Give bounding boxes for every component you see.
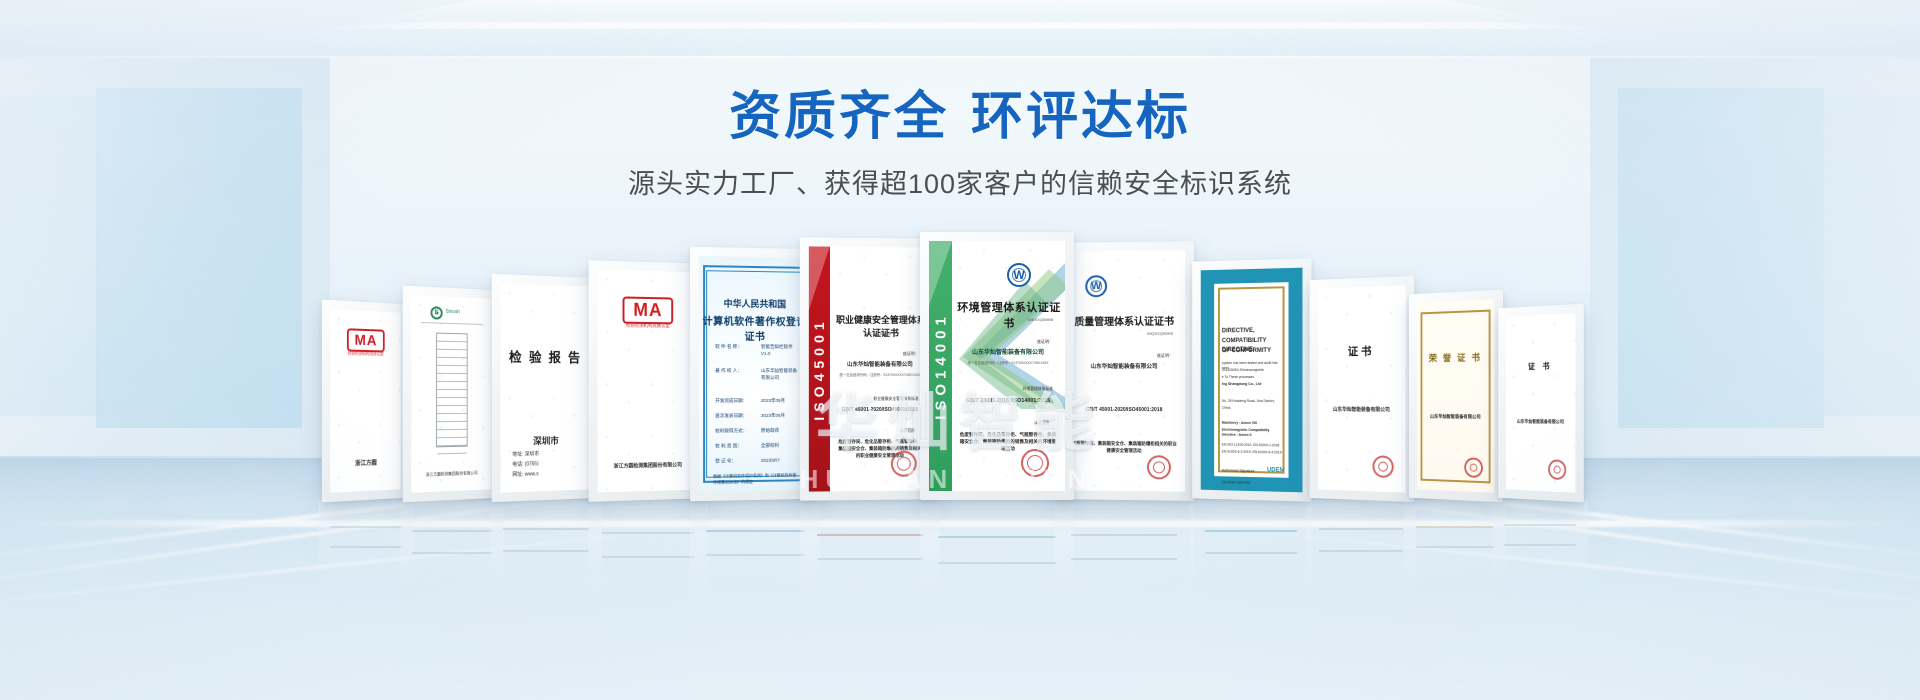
cert-field: 地址: 深圳市 — [512, 450, 584, 459]
cert-field-value: 2023SR7 — [761, 456, 800, 464]
certificate-reflection — [920, 500, 1074, 660]
red-stamp — [1546, 458, 1568, 482]
cert-company: 山东华灿智能装备有限公司 — [1323, 407, 1399, 415]
cert-title: 证书 — [1318, 342, 1406, 359]
cert-scope: 危废暂存间、危化品暂存柜、气瓶暂存柜、集装箱安全仓、集装箱防爆柜的销售及相关的环… — [959, 431, 1057, 452]
cert-iso45001: ISO45001 职业健康安全管理体系认证证书 00CXXQ0M95 兹证明： … — [809, 246, 931, 491]
cert-title: 证 书 — [1506, 360, 1576, 372]
page-title: 资质齐全环评达标 — [0, 88, 1920, 148]
cert-field-label: 权利取得方式： — [715, 427, 759, 435]
ce-heading-line: DIRECTIVE, — [1222, 327, 1283, 337]
cert-title: 计算机软件著作权登记证书 — [699, 312, 810, 343]
floor-reflections — [0, 500, 1920, 700]
ce-body-line: 2014/30/EU Electromagnetic — [1222, 368, 1283, 373]
org-seal: S — [430, 306, 442, 320]
ce-annex-line: Electromagnetic Compatibility Directive … — [1222, 428, 1283, 439]
cert-inspection-report: 检 验 报 告 深圳市 地址: 深圳市 电话: (0755) 网址: www.s — [501, 283, 590, 492]
cert-field-label: 开发完成日期： — [715, 397, 759, 404]
cert-field-value: 山东华灿智能装备有限公司 — [761, 367, 800, 381]
cert-company: 山东华灿智能装备有限公司 — [1424, 413, 1487, 421]
ce-body-line: ing Shangdong Co., Ltd — [1222, 382, 1283, 388]
cert-field-label: 软 件 名 称： — [715, 343, 759, 350]
certificate-frame[interactable]: MA 检验检测机构资质认定 浙江方圆 — [322, 300, 408, 503]
certificate-banner-stage: 资质齐全环评达标 源头实力工厂、获得超100家客户的信赖安全标识系统 MA 检验… — [0, 0, 1920, 700]
cert-honor-3: 证 书 山东华灿智能装备有限公司 — [1506, 313, 1576, 493]
red-stamp — [1144, 453, 1173, 482]
banner-headings: 资质齐全环评达标 源头实力工厂、获得超100家客户的信赖安全标识系统 — [0, 88, 1920, 201]
cma-badge-sub: 检验检测机构资质认定 — [330, 350, 400, 358]
cert-company: 浙江方圆检测集团股份有限公司 — [415, 470, 487, 479]
cert-field-label: 首次发表日期： — [715, 412, 759, 419]
org-name: Sinoah — [445, 309, 491, 317]
cert-field: 电话: (0755) — [512, 460, 584, 470]
cert-company: 山东华灿智能装备有限公司 — [957, 349, 1059, 358]
cert-field-label: 登 记 号： — [715, 457, 759, 465]
cert-company-label: 兹证明： — [1069, 353, 1173, 359]
cert-field-label: 著 作 权 人： — [715, 367, 759, 374]
ce-body-line: e To These processes — [1222, 375, 1283, 380]
cert-company-label: 兹证明： — [957, 339, 1053, 345]
cert-number: 00QXXQ0M95 — [1069, 331, 1173, 338]
ce-heading-line: OF CONFORMITY — [1222, 347, 1283, 357]
cert-footer: 根据《计算机软件保护条例》和《计算机软件著作权登记办法》的规定 — [713, 472, 796, 486]
cert-company-label: 兹证明： — [835, 351, 919, 357]
ce-address-line: No. 39 Huadeng Road, Jina District, — [1222, 399, 1283, 405]
certificate-shelf: MA 检验检测机构资质认定 浙江方圆 S Sinoah — [0, 232, 1920, 500]
cert-scope-label: 认证范围： — [957, 421, 1053, 427]
certificate-frame[interactable]: W 质量管理体系认证证书 00QXXQ0M95 兹证明： 山东华灿智能装备有限公… — [1055, 241, 1194, 501]
cert-standard: GB/T 45001-2020/ISO45001:2018 — [835, 407, 925, 415]
spine-corner-cut — [929, 241, 952, 306]
cert-field-value: 原始取得 — [761, 427, 800, 434]
cert-number: 00EXXQ0M95 — [957, 317, 1053, 323]
ce-standard-line: EN ISO 12100:2010, EN 60204-1:2018 — [1222, 443, 1283, 449]
ceiling-light-slit — [300, 22, 1620, 29]
cert-scope: 气瓶暂存库、集装箱安全仓、集装箱防爆柜相关的职业健康安全管理活动 — [1071, 441, 1177, 455]
iso-spine: ISO14001 — [929, 241, 952, 491]
iso-spine: ISO45001 — [809, 246, 830, 491]
certificate-reflection — [400, 500, 504, 630]
iso-standard-code: ISO14001 — [932, 312, 949, 420]
certificate-frame[interactable]: 检 验 报 告 深圳市 地址: 深圳市 电话: (0755) 网址: www.s — [492, 274, 599, 502]
cert-title: 质量管理体系认证证书 — [1068, 313, 1182, 329]
cert-company: 深圳市 — [501, 434, 590, 450]
ce-standard-line: EN 61000-6-2:2019, EN 61000-6-4:2019 — [1222, 450, 1283, 456]
cert-title: 检 验 报 告 — [501, 346, 590, 366]
cert-software-copyright: 中华人民共和国 计算机软件著作权登记证书 软 件 名 称： 智能告知栏软件 V1… — [699, 256, 810, 492]
cert-standard: GB/T 45001-2020/ISO45001:2018 — [1069, 407, 1179, 415]
certificate-frame[interactable]: 证书 山东华灿智能装备有限公司 — [1310, 276, 1415, 502]
cert-cma-inspection-2: MA 检验检测机构资质认定 浙江方圆检测集团股份有限公司 — [598, 270, 697, 493]
certificate-frame[interactable]: MA 检验检测机构资质认定 浙江方圆检测集团股份有限公司 — [589, 260, 706, 502]
cert-company: 浙江方圆 — [330, 459, 400, 471]
cert-iso9001: W 质量管理体系认证证书 00QXXQ0M95 兹证明： 山东华灿智能装备有限公… — [1064, 250, 1186, 491]
cert-number: 00CXXQ0M95 — [835, 331, 921, 337]
certificate-reflection — [1404, 500, 1506, 624]
cert-org: 中华人民共和国 — [699, 296, 810, 310]
cert-field-value: 2023年06月 — [761, 412, 800, 419]
certificate-frame[interactable]: 荣 誉 证 书 山东华灿智能装备有限公司 — [1409, 290, 1503, 503]
page-subtitle: 源头实力工厂、获得超100家客户的信赖安全标识系统 — [0, 162, 1920, 201]
iso-standard-code: ISO45001 — [811, 317, 827, 421]
cert-address-note: 统一社会信用代码／注册号：91370X0XXX7X8X1X6X — [835, 373, 925, 378]
cert-field-value: 2023年05月 — [761, 397, 800, 404]
cert-field-value: 智能告知栏软件 V1.0 — [761, 343, 800, 357]
cert-scope-label: 认证范围： — [835, 429, 919, 435]
title-part-1: 资质齐全 — [729, 88, 949, 146]
certificate-frame[interactable]: ISO45001 职业健康安全管理体系认证证书 00CXXQ0M95 兹证明： … — [800, 237, 940, 500]
cert-title: 环境管理体系认证证书 — [957, 299, 1061, 331]
certificate-frame[interactable]: 证 书 山东华灿智能装备有限公司 — [1498, 304, 1584, 503]
certificate-frame[interactable]: DIRECTIVE, COMPATIBILITY DIRECTIVE OF CO… — [1192, 258, 1311, 501]
cert-border — [1421, 309, 1491, 483]
certificate-reflection — [800, 500, 940, 656]
cert-field: 网址: www.s — [512, 470, 584, 480]
certificate-frame[interactable]: ISO14001 W 环境管理体系认证证书 00EXXQ0M95 兹证明： 山东… — [920, 232, 1074, 500]
cert-title: 荣 誉 证 书 — [1417, 350, 1494, 364]
ce-issuer: UDEM — [1222, 465, 1285, 476]
spec-table — [436, 333, 468, 448]
cert-field-value: 全部权利 — [761, 442, 800, 450]
cert-company: 山东华灿智能装备有限公司 — [1511, 419, 1570, 426]
certification-body-seal: W — [1007, 263, 1031, 287]
spine-corner-cut — [809, 246, 830, 310]
divider — [421, 322, 482, 325]
red-stamp — [1370, 453, 1396, 479]
cma-badge: MA — [347, 328, 385, 352]
certificate-reflection — [1190, 500, 1312, 642]
cert-company: 山东华灿智能装备有限公司 — [835, 361, 925, 370]
certificate-frame[interactable]: S Sinoah 浙江方圆检测集团股份有限公司 — [403, 286, 499, 503]
certificate-reflection — [1492, 500, 1588, 616]
cert-standard-label: 职业健康安全管理体系标准 — [835, 397, 919, 403]
cert-honor-2: 荣 誉 证 书 山东华灿智能装备有限公司 — [1417, 299, 1494, 493]
certification-body-seal: W — [1085, 275, 1107, 297]
cert-company: 山东华灿智能装备有限公司 — [1069, 363, 1179, 372]
cert-ce-directive: DIRECTIVE, COMPATIBILITY DIRECTIVE OF CO… — [1201, 268, 1303, 493]
cma-badge: MA — [623, 296, 674, 324]
ce-address-line: China — [1222, 406, 1283, 412]
title-part-2: 环评达标 — [971, 88, 1191, 146]
certificate-reflection — [1054, 500, 1194, 654]
cert-product-spec-table: S Sinoah 浙江方圆检测集团股份有限公司 — [411, 295, 491, 493]
cert-standard: GB/T 24001-2016 /ISO14001:2015 — [957, 397, 1059, 405]
cert-address-note: 统一社会信用代码／注册号：91370X0XXX7X8X1X6X — [957, 361, 1059, 366]
cert-company: 浙江方圆检测集团股份有限公司 — [604, 462, 692, 472]
cert-honor-1: 证书 山东华灿智能装备有限公司 — [1318, 285, 1406, 492]
cert-field-label: 权 利 范 围： — [715, 442, 759, 450]
ce-annex-line: Machinery : Annex VIII — [1222, 421, 1283, 427]
certificate-reflection — [1306, 500, 1416, 632]
certificate-reflection — [490, 500, 602, 636]
cert-cma-inspection-1: MA 检验检测机构资质认定 浙江方圆 — [330, 309, 400, 492]
cert-standard-label: 环境管理体系标准 — [957, 387, 1053, 393]
cert-iso14001: ISO14001 W 环境管理体系认证证书 00EXXQ0M95 兹证明： 山东… — [929, 241, 1065, 491]
cma-badge-sub: 检验检测机构资质认定 — [598, 322, 697, 329]
